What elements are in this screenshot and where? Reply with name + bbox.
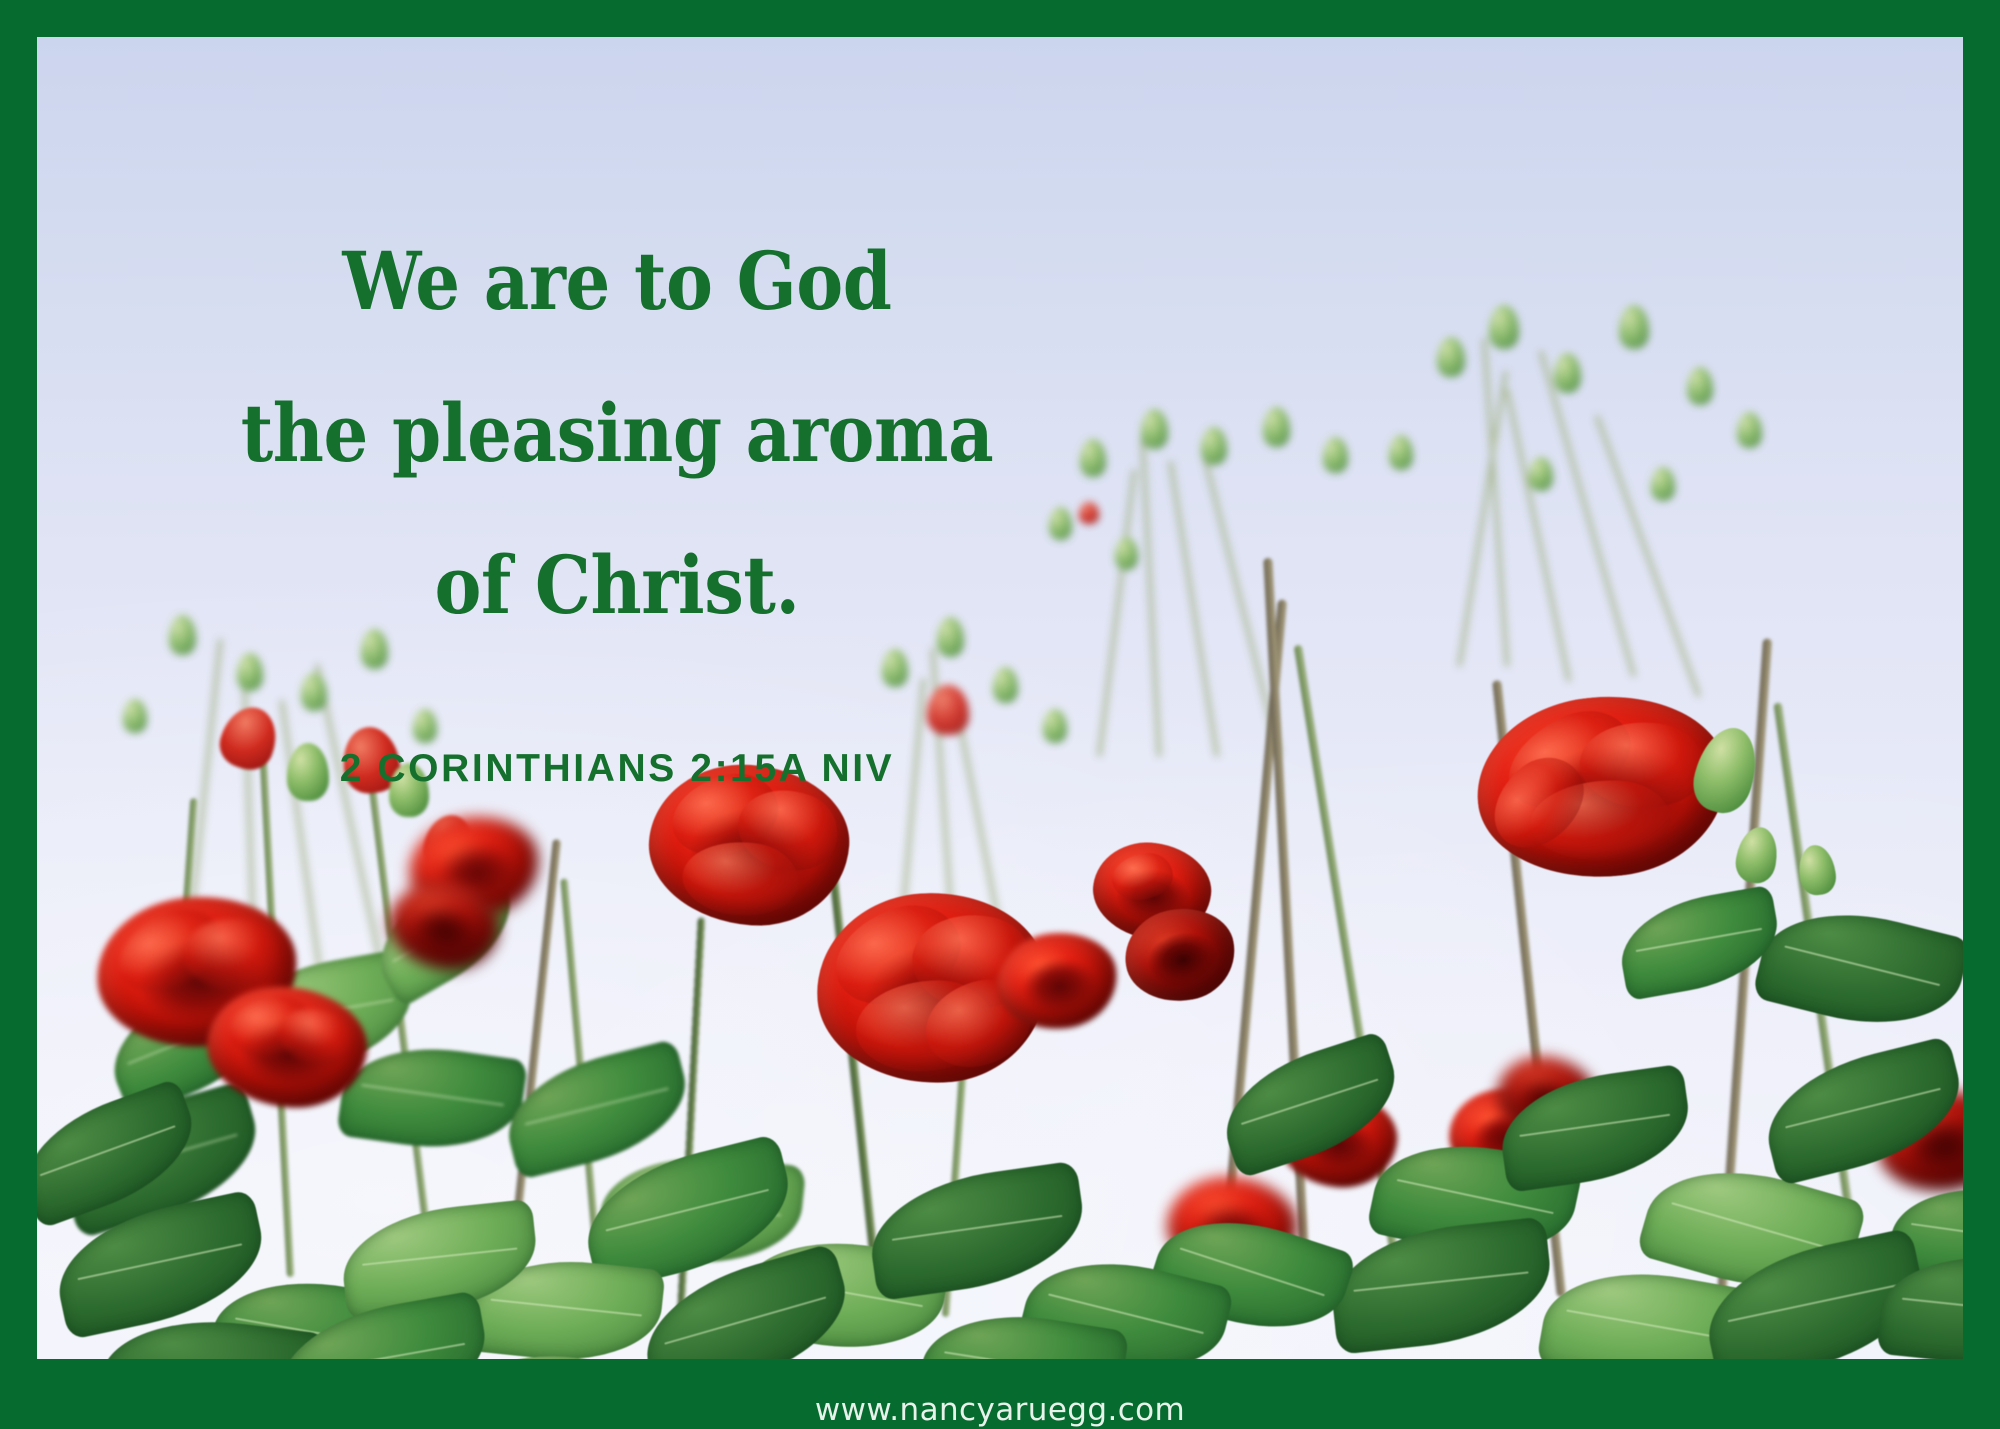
verse-graphic-card: We are to God the pleasing aroma of Chri… — [0, 0, 2000, 1429]
verse-text-block: We are to God the pleasing aroma of Chri… — [37, 205, 1197, 661]
website-url[interactable]: www.nancyaruegg.com — [0, 1392, 2000, 1428]
scripture-citation: 2 Corinthians 2:15a NIV — [37, 747, 1197, 791]
verse-line-1: We are to God — [107, 205, 1128, 357]
verse-line-3: of Christ. — [107, 509, 1128, 661]
verse-line-2: the pleasing aroma — [107, 357, 1128, 509]
background-photograph: We are to God the pleasing aroma of Chri… — [37, 37, 1963, 1359]
